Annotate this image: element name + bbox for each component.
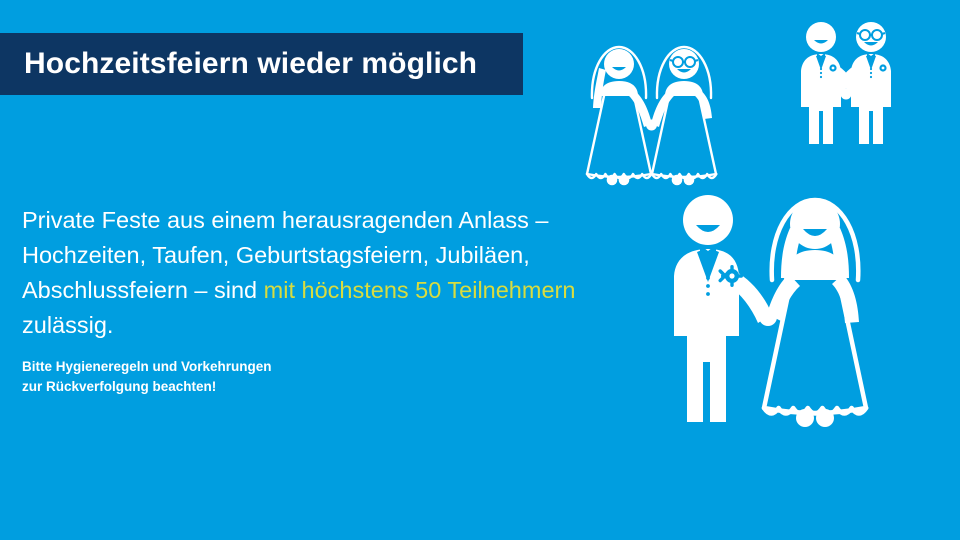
body-highlight: mit höchstens 50 Teilnehmern <box>264 277 576 303</box>
page-title: Hochzeitsfeiern wieder möglich <box>0 47 477 81</box>
two-brides-icon <box>578 24 728 199</box>
bride-and-groom-icon <box>648 186 880 434</box>
body-paragraph: Private Feste aus einem herausragenden A… <box>22 203 622 343</box>
footnote-line-one: Bitte Hygieneregeln und Vorkehrungen <box>22 357 442 377</box>
footnote-line-two: zur Rückverfolgung beachten! <box>22 377 442 397</box>
two-grooms-icon <box>786 12 906 152</box>
slide-canvas: Hochzeitsfeiern wieder möglich Private F… <box>0 0 960 540</box>
body-segment-two: zulässig. <box>22 312 113 338</box>
footnote-note: Bitte Hygieneregeln und Vorkehrungen zur… <box>22 357 442 397</box>
title-banner: Hochzeitsfeiern wieder möglich <box>0 33 523 95</box>
